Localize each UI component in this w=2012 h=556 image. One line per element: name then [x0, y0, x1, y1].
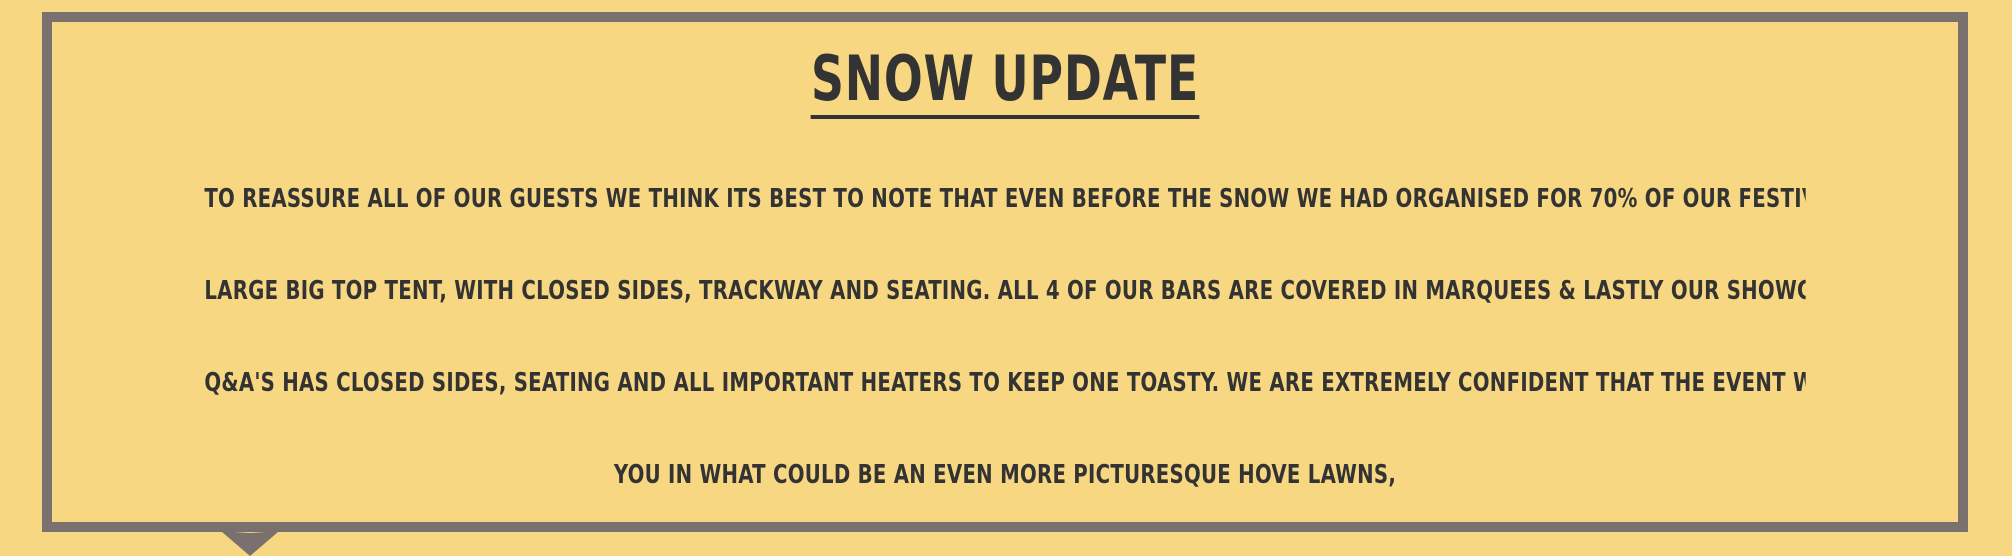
notice-body: TO REASSURE ALL OF OUR GUESTS WE THINK I… [74, 153, 1936, 521]
announcement-banner: SNOW UPDATE TO REASSURE ALL OF OUR GUEST… [0, 0, 2012, 556]
speech-bubble-tail-icon [222, 532, 278, 556]
notice-content: SNOW UPDATE TO REASSURE ALL OF OUR GUEST… [52, 22, 1958, 522]
speech-bubble-tail-fill-icon [234, 532, 266, 533]
notice-body-line: TO REASSURE ALL OF OUR GUESTS WE THINK I… [204, 153, 1805, 245]
page-title: SNOW UPDATE [242, 48, 1769, 119]
notice-box: SNOW UPDATE TO REASSURE ALL OF OUR GUEST… [42, 12, 1968, 532]
page-title-text: SNOW UPDATE [811, 48, 1199, 119]
notice-body-line: LARGE BIG TOP TENT, WITH CLOSED SIDES, T… [204, 245, 1805, 337]
notice-body-line: Q&A'S HAS CLOSED SIDES, SEATING AND ALL … [204, 337, 1805, 429]
notice-body-line: YOU IN WHAT COULD BE AN EVEN MORE PICTUR… [204, 429, 1805, 521]
